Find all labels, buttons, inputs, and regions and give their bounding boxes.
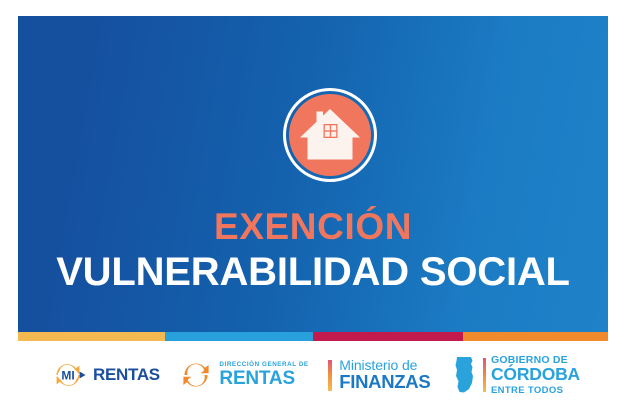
- dgr-text-block: DIRECCIÓN GENERAL DE RENTAS: [219, 362, 308, 388]
- circular-arrows-icon: [179, 358, 213, 392]
- house-badge: [283, 88, 377, 182]
- gobierno-text-block: GOBIERNO DE CÓRDOBA ENTRE TODOS: [491, 355, 580, 396]
- gobierno-line-2: CÓRDOBA: [491, 366, 580, 384]
- finanzas-line-2: FINANZAS: [339, 373, 430, 392]
- logo-ministerio-finanzas: Ministerio de FINANZAS: [328, 353, 430, 397]
- color-rule-segment-orange: [463, 332, 608, 341]
- mi-rentas-word: RENTAS: [93, 365, 160, 385]
- gradient-bar-icon: [483, 358, 486, 392]
- color-rule: [18, 332, 608, 341]
- gradient-bar-icon: [328, 360, 332, 391]
- headline-block: EXENCIÓN VULNERABILIDAD SOCIAL: [18, 208, 608, 294]
- circular-arrows-icon: MI: [46, 358, 90, 392]
- poster-canvas: EXENCIÓN VULNERABILIDAD SOCIAL MI RENTAS: [0, 0, 624, 414]
- mi-rentas-badge-text: MI: [61, 368, 74, 382]
- finanzas-text-block: Ministerio de FINANZAS: [339, 358, 430, 391]
- logo-strip: MI RENTAS DIRECCIÓN GENERAL DE RENTAS Mi…: [18, 348, 608, 402]
- gobierno-line-3: ENTRE TODOS: [491, 386, 580, 396]
- logo-direccion-general-rentas: DIRECCIÓN GENERAL DE RENTAS: [179, 353, 308, 397]
- color-rule-segment-blue: [165, 332, 313, 341]
- logo-gobierno-cordoba: GOBIERNO DE CÓRDOBA ENTRE TODOS: [450, 353, 580, 397]
- headline-primary: EXENCIÓN: [18, 208, 608, 245]
- cordoba-map-icon: [450, 355, 478, 395]
- color-rule-segment-pink: [313, 332, 463, 341]
- dgr-line-2: RENTAS: [219, 369, 308, 388]
- house-icon: [283, 88, 377, 182]
- color-rule-segment-gold: [18, 332, 165, 341]
- logo-mi-rentas: MI RENTAS: [46, 353, 160, 397]
- hero-panel: EXENCIÓN VULNERABILIDAD SOCIAL: [18, 16, 608, 332]
- headline-secondary: VULNERABILIDAD SOCIAL: [18, 251, 608, 294]
